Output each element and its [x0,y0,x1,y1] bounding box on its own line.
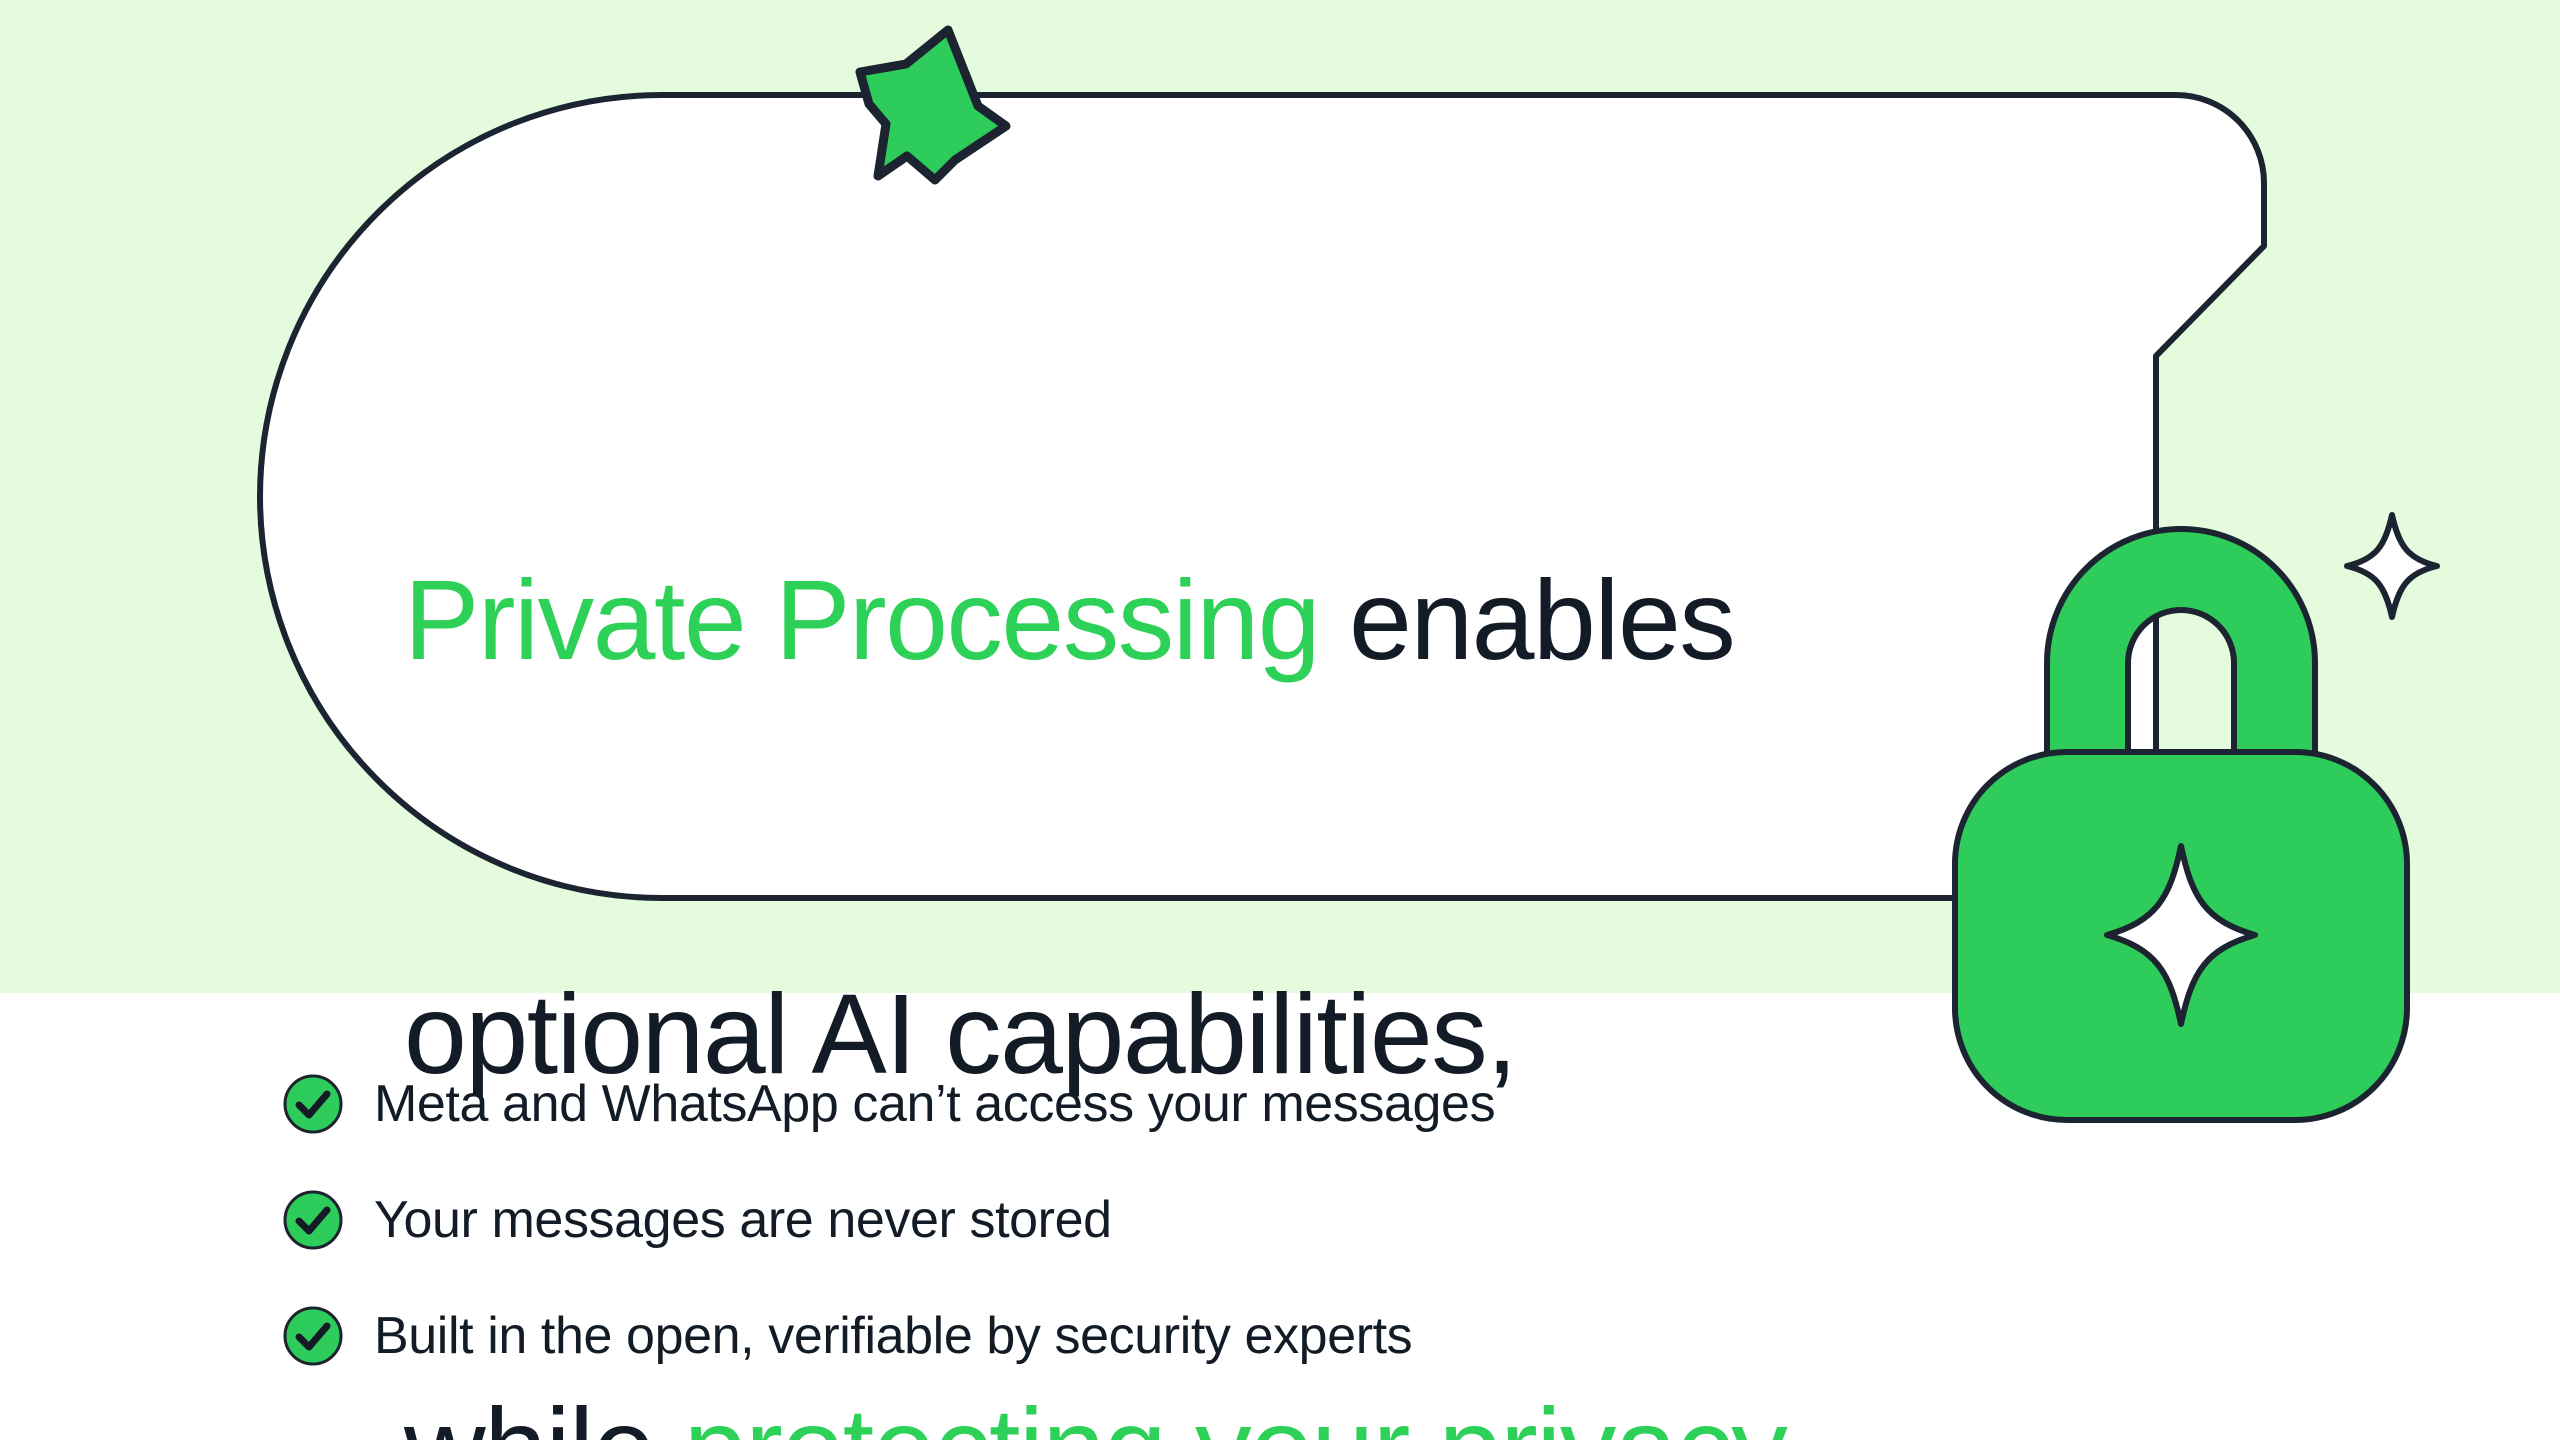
list-item-label: Built in the open, verifiable by securit… [374,1305,1412,1367]
promo-graphic: Private Processing enables optional AI c… [0,0,2560,1440]
headline-accent-1: Private Processing [404,557,1319,683]
list-item: Your messages are never stored [282,1162,2082,1278]
check-circle-icon [282,1189,344,1251]
list-item-label: Your messages are never stored [374,1189,1112,1251]
list-item-label: Meta and WhatsApp can’t access your mess… [374,1073,1495,1135]
list-item: Built in the open, verifiable by securit… [282,1278,2082,1394]
check-circle-icon [282,1305,344,1367]
list-item: Meta and WhatsApp can’t access your mess… [282,1046,2082,1162]
headline-plain-1: enables [1319,557,1734,683]
feature-checklist: Meta and WhatsApp can’t access your mess… [282,1046,2082,1394]
headline-line-1: Private Processing enables [404,551,2004,689]
check-circle-icon [282,1073,344,1135]
